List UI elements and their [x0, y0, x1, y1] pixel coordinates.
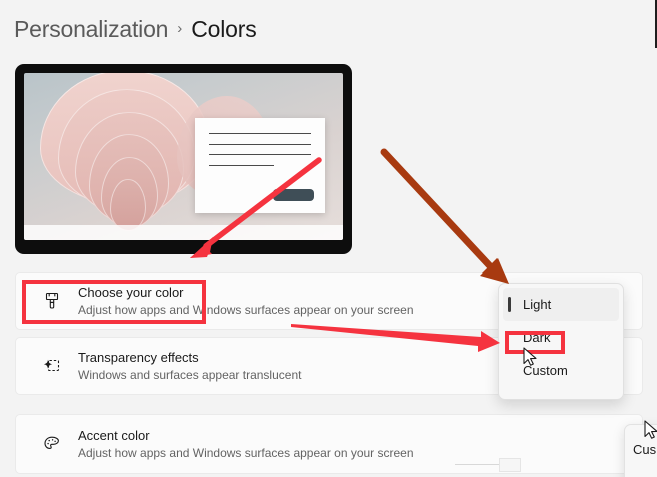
chevron-right-icon: ›: [177, 20, 182, 39]
setting-row-accent-color[interactable]: Accent color Adjust how apps and Windows…: [15, 414, 643, 474]
setting-subtitle: Adjust how apps and Windows surfaces app…: [78, 302, 414, 318]
palette-icon: [34, 434, 70, 454]
preview-screen: [24, 73, 343, 240]
paintbrush-icon: [34, 291, 70, 311]
preview-taskbar: [24, 225, 343, 240]
setting-subtitle: Adjust how apps and Windows surfaces app…: [78, 445, 414, 461]
flyout-partial-label: Cus: [633, 442, 656, 457]
setting-title: Accent color: [78, 427, 414, 444]
flyout-option-label: Custom: [523, 363, 568, 378]
setting-title: Choose your color: [78, 284, 414, 301]
setting-subtitle: Windows and surfaces appear translucent: [78, 367, 301, 383]
flyout-option-light[interactable]: Light: [503, 288, 619, 321]
flyout-option-custom[interactable]: Custom: [503, 354, 619, 387]
flyout-option-label: Dark: [523, 330, 550, 345]
breadcrumb-parent-link[interactable]: Personalization: [14, 16, 168, 43]
preview-sample-button: [273, 189, 314, 201]
arrow-to-flyout: [384, 152, 509, 284]
setting-title: Transparency effects: [78, 349, 301, 366]
accent-color-flyout-partial[interactable]: Cus: [624, 424, 657, 477]
sparkle-icon: [34, 356, 70, 376]
flyout-option-label: Light: [523, 297, 551, 312]
accent-color-ghost-control: [455, 457, 525, 473]
preview-sample-window: [195, 118, 326, 213]
breadcrumb: Personalization › Colors: [14, 10, 257, 48]
desktop-preview: [15, 64, 352, 254]
page-title: Colors: [191, 16, 256, 43]
settings-colors-page: Personalization › Colors: [0, 0, 657, 477]
choose-your-color-flyout[interactable]: Light Dark Custom: [498, 283, 624, 400]
flyout-option-dark[interactable]: Dark: [503, 321, 619, 354]
monitor-bezel: [15, 64, 352, 254]
